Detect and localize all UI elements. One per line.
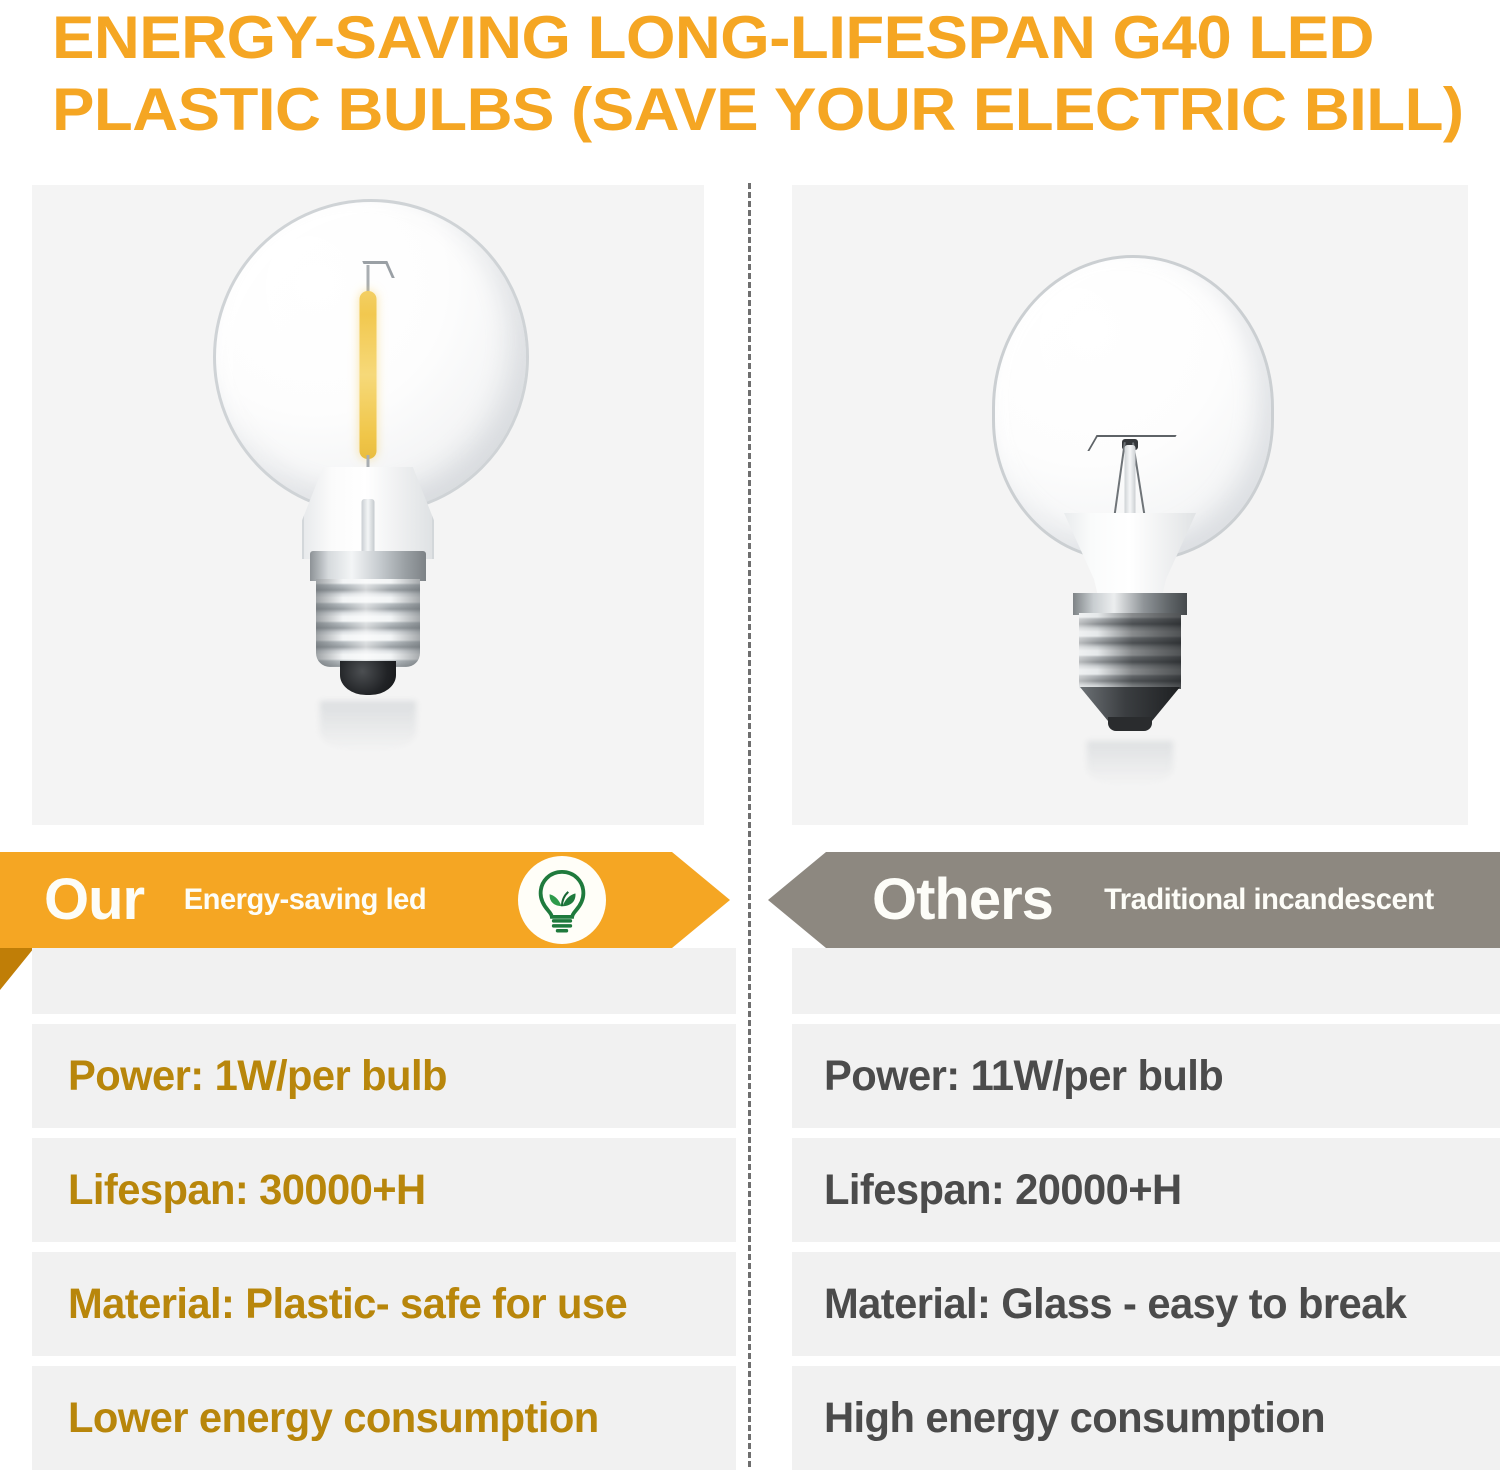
feature-cell-others: Power: 11W/per bulb	[792, 1024, 1500, 1128]
feature-text-our: Lifespan: 30000+H	[68, 1167, 426, 1213]
feature-text-our: Material: Plastic- safe for use	[68, 1281, 627, 1327]
feature-cell-others: Lifespan: 20000+H	[792, 1138, 1500, 1242]
led-bulb-reflection	[320, 701, 416, 751]
table-row: Lifespan: 30000+H Lifespan: 20000+H	[0, 1138, 1500, 1242]
incandescent-screw-base	[1071, 593, 1189, 743]
incandescent-bulb-image	[980, 255, 1280, 815]
feature-text-our: Lower energy consumption	[68, 1395, 599, 1441]
led-base-threads	[316, 579, 420, 667]
our-banner-title: Our	[44, 871, 144, 929]
others-banner: Others Traditional incandescent	[768, 852, 1500, 948]
feature-cell-our: Material: Plastic- safe for use	[32, 1252, 736, 1356]
page-title: ENERGY-SAVING LONG-LIFESPAN G40 LED PLAS…	[52, 2, 1500, 146]
led-stem-post	[362, 499, 375, 555]
incandescent-bulb-photo-panel	[792, 185, 1468, 825]
led-bulb-photo-panel	[32, 185, 704, 825]
incandescent-base-contact-tip	[1108, 717, 1152, 731]
led-base-threads-shading	[316, 579, 420, 667]
incandescent-base-threads-shading	[1079, 613, 1181, 689]
feature-text-others: High energy consumption	[824, 1395, 1325, 1441]
feature-cell-our: Lower energy consumption	[32, 1366, 736, 1470]
others-banner-subtitle: Traditional incandescent	[1104, 885, 1434, 915]
eco-bulb-leaf-icon	[518, 856, 606, 944]
table-row: Power: 1W/per bulb Power: 11W/per bulb	[0, 1024, 1500, 1128]
incandescent-base-threads	[1079, 613, 1181, 689]
incandescent-base-taper	[1080, 687, 1180, 721]
led-base-collar	[310, 551, 426, 581]
feature-text-others: Lifespan: 20000+H	[824, 1167, 1182, 1213]
spacer-cell-others	[792, 948, 1500, 1014]
led-filament	[360, 291, 377, 459]
led-bulb-image	[203, 199, 533, 799]
our-banner-subtitle: Energy-saving led	[184, 885, 426, 915]
others-banner-title: Others	[872, 871, 1053, 929]
incandescent-neck	[1055, 513, 1205, 605]
incandescent-bulb-reflection	[1087, 741, 1173, 785]
feature-cell-others: High energy consumption	[792, 1366, 1500, 1470]
spacer-cell-our	[32, 948, 736, 1014]
feature-cell-our: Lifespan: 30000+H	[32, 1138, 736, 1242]
led-base-contact-tip	[340, 661, 396, 695]
led-screw-base	[306, 551, 430, 701]
table-spacer-row	[0, 948, 1500, 1014]
feature-cell-our: Power: 1W/per bulb	[32, 1024, 736, 1128]
table-row: Lower energy consumption High energy con…	[0, 1366, 1500, 1470]
comparison-banner-row: Our Energy-saving led Others Traditional…	[0, 852, 1500, 952]
incandescent-globe-highlight	[1026, 278, 1142, 417]
feature-text-our: Power: 1W/per bulb	[68, 1053, 447, 1099]
feature-text-others: Material: Glass - easy to break	[824, 1281, 1406, 1327]
feature-text-others: Power: 11W/per bulb	[824, 1053, 1223, 1099]
comparison-table: Power: 1W/per bulb Power: 11W/per bulb L…	[0, 948, 1500, 1480]
our-banner: Our Energy-saving led	[0, 852, 730, 948]
table-row: Material: Plastic- safe for use Material…	[0, 1252, 1500, 1356]
incandescent-base-collar	[1073, 593, 1187, 615]
feature-cell-others: Material: Glass - easy to break	[792, 1252, 1500, 1356]
